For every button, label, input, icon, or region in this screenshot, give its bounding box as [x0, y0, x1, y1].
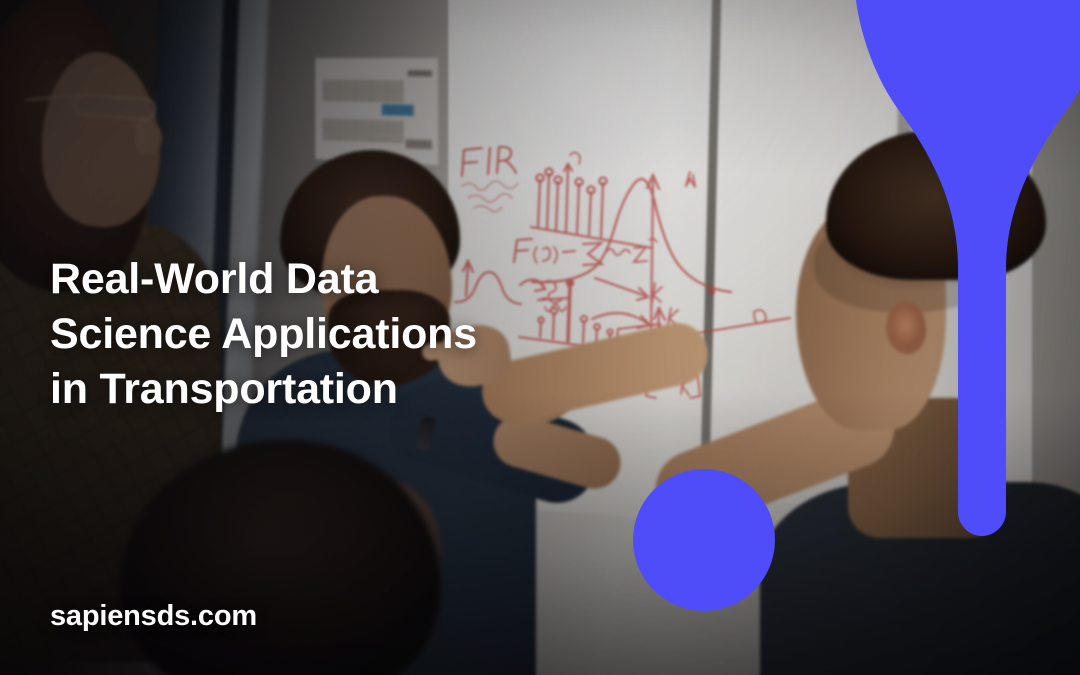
- circle-shape: [633, 469, 775, 611]
- social-banner: Real-World Data Science Applications in …: [0, 0, 1080, 675]
- funnel-shape: [856, 0, 1080, 536]
- website-url: sapiensds.com: [50, 600, 257, 633]
- page-title: Real-World Data Science Applications in …: [50, 252, 477, 417]
